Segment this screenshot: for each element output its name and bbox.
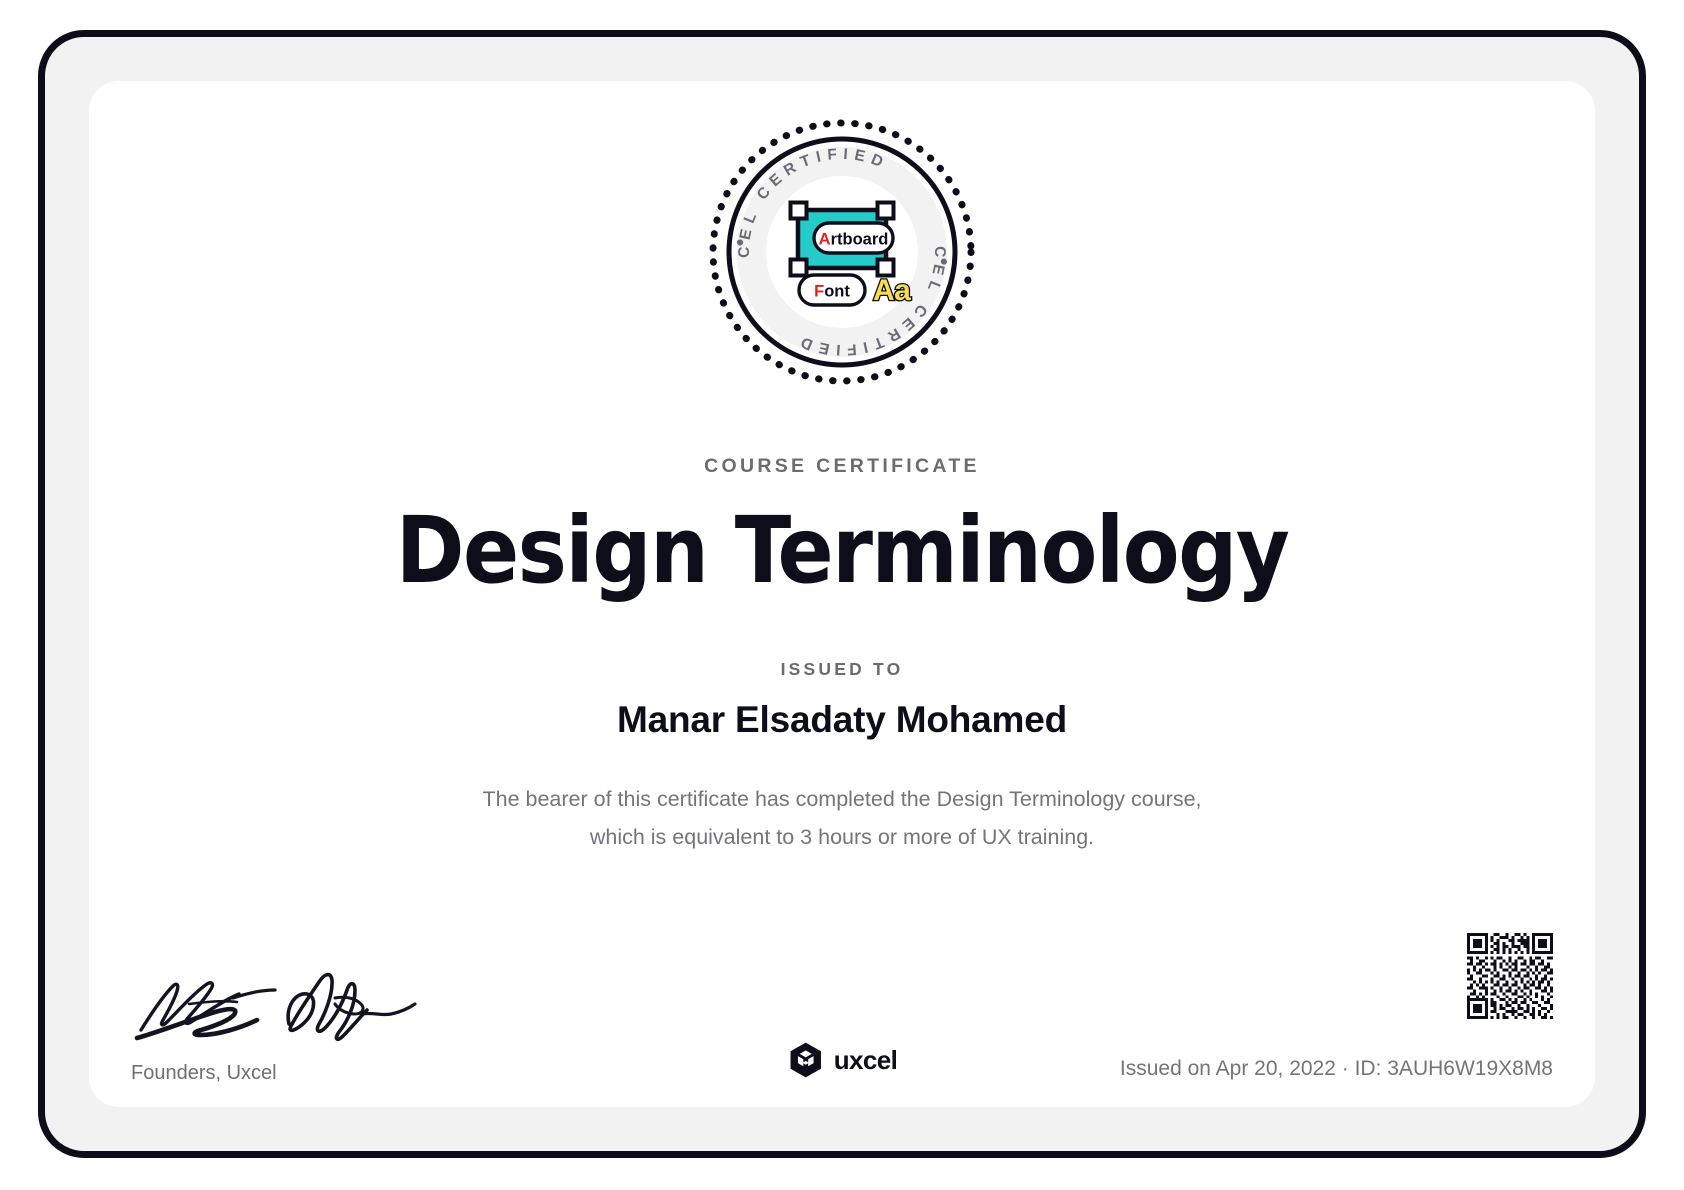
- uxcel-cube-icon: [787, 1041, 825, 1079]
- page-title: Design Terminology: [89, 501, 1595, 600]
- svg-text:Font: Font: [814, 283, 850, 301]
- qr-code-icon: [1467, 933, 1553, 1019]
- founders-label: Founders, Uxcel: [129, 1062, 459, 1085]
- svg-text:Artboard: Artboard: [819, 231, 889, 249]
- issue-date-and-id: Issued on Apr 20, 2022 · ID: 3AUH6W19X8M…: [1120, 1057, 1553, 1081]
- certificate-type-eyebrow: COURSE CERTIFICATE: [89, 455, 1595, 478]
- verification-qr-code[interactable]: [1467, 933, 1553, 1019]
- certificate-frame: UXCEL CERTIFIED UXCEL CERTIFIED: [38, 30, 1646, 1158]
- artboard-graphic: Artboard: [791, 203, 894, 276]
- svg-text:Aa: Aa: [873, 274, 911, 307]
- certificate-description: The bearer of this certificate has compl…: [89, 781, 1595, 856]
- description-line-1: The bearer of this certificate has compl…: [89, 781, 1595, 819]
- uxcel-brand-logo: uxcel: [787, 1041, 898, 1079]
- founder-signatures-icon: [129, 958, 421, 1050]
- issue-info-block: Issued on Apr 20, 2022 · ID: 3AUH6W19X8M…: [1120, 1057, 1553, 1081]
- uxcel-wordmark: uxcel: [834, 1045, 898, 1076]
- issued-to-label: ISSUED TO: [89, 659, 1595, 680]
- certificate-footer: Founders, Uxcel uxcel: [89, 897, 1595, 1107]
- uxcel-certified-seal-badge: UXCEL CERTIFIED UXCEL CERTIFIED: [703, 113, 981, 391]
- recipient-name: Manar Elsadaty Mohamed: [89, 699, 1595, 741]
- font-graphic: Font Aa: [799, 274, 911, 307]
- certificate-card: UXCEL CERTIFIED UXCEL CERTIFIED: [89, 81, 1595, 1107]
- description-line-2: which is equivalent to 3 hours or more o…: [89, 819, 1595, 857]
- seal-icon: UXCEL CERTIFIED UXCEL CERTIFIED: [703, 113, 981, 391]
- signature-block: Founders, Uxcel: [129, 958, 459, 1085]
